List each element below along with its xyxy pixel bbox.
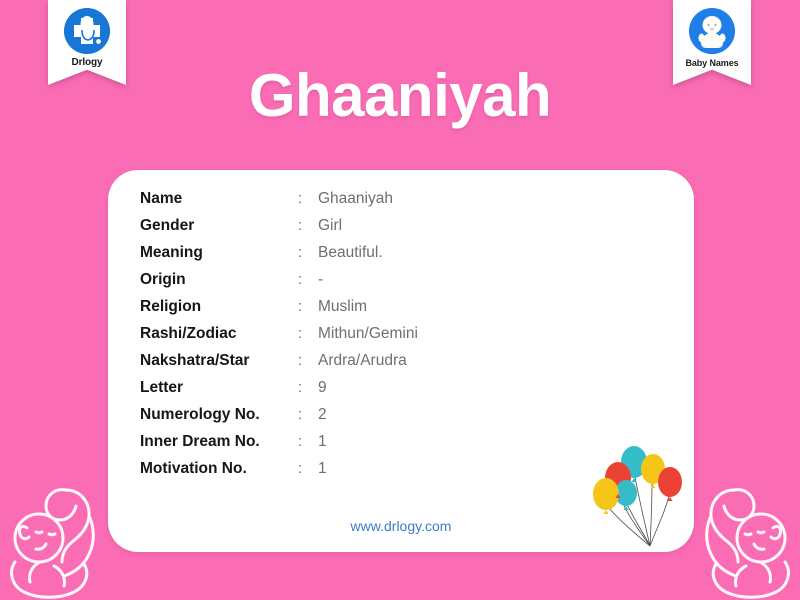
row-separator: : xyxy=(298,217,318,234)
table-row: Meaning : Beautiful. xyxy=(140,244,418,271)
row-separator: : xyxy=(298,325,318,342)
row-value-name: Ghaaniyah xyxy=(318,190,393,208)
row-separator: : xyxy=(298,352,318,369)
balloons-icon xyxy=(592,442,688,552)
row-separator: : xyxy=(298,190,318,207)
row-value-rashi-zodiac: Mithun/Gemini xyxy=(318,325,418,343)
row-separator: : xyxy=(298,271,318,288)
table-row: Numerology No. : 2 xyxy=(140,406,418,433)
row-separator: : xyxy=(298,406,318,423)
row-separator: : xyxy=(298,460,318,477)
table-row: Name : Ghaaniyah xyxy=(140,190,418,217)
row-value-letter: 9 xyxy=(318,379,327,397)
row-value-gender: Girl xyxy=(318,217,342,235)
row-label-meaning: Meaning xyxy=(140,244,298,262)
row-value-inner-dream-no: 1 xyxy=(318,433,327,451)
row-label-gender: Gender xyxy=(140,217,298,235)
name-details-card: Name : Ghaaniyah Gender : Girl Meaning :… xyxy=(108,170,694,552)
table-row: Motivation No. : 1 xyxy=(140,460,418,487)
row-label-religion: Religion xyxy=(140,298,298,316)
row-value-motivation-no: 1 xyxy=(318,460,327,478)
row-value-origin: - xyxy=(318,271,323,289)
row-label-inner-dream-no: Inner Dream No. xyxy=(140,433,298,451)
row-value-religion: Muslim xyxy=(318,298,367,316)
drlogy-doctor-cross-icon xyxy=(64,8,110,54)
table-row: Gender : Girl xyxy=(140,217,418,244)
mother-and-baby-icon xyxy=(688,466,800,600)
table-row: Nakshatra/Star : Ardra/Arudra xyxy=(140,352,418,379)
row-separator: : xyxy=(298,379,318,396)
row-label-numerology-no: Numerology No. xyxy=(140,406,298,424)
baby-icon xyxy=(689,8,735,54)
table-row: Letter : 9 xyxy=(140,379,418,406)
name-card-poster: Drlogy Baby Names Ghaaniyah xyxy=(0,0,800,600)
row-value-meaning: Beautiful. xyxy=(318,244,383,262)
row-label-nakshatra-star: Nakshatra/Star xyxy=(140,352,298,370)
row-label-motivation-no: Motivation No. xyxy=(140,460,298,478)
row-separator: : xyxy=(298,244,318,261)
table-row: Inner Dream No. : 1 xyxy=(140,433,418,460)
row-separator: : xyxy=(298,433,318,450)
row-value-nakshatra-star: Ardra/Arudra xyxy=(318,352,407,370)
table-row: Religion : Muslim xyxy=(140,298,418,325)
row-label-name: Name xyxy=(140,190,298,208)
row-label-origin: Origin xyxy=(140,271,298,289)
table-row: Rashi/Zodiac : Mithun/Gemini xyxy=(140,325,418,352)
row-value-numerology-no: 2 xyxy=(318,406,327,424)
page-title: Ghaaniyah xyxy=(0,62,800,130)
details-table: Name : Ghaaniyah Gender : Girl Meaning :… xyxy=(140,190,418,487)
table-row: Origin : - xyxy=(140,271,418,298)
row-separator: : xyxy=(298,298,318,315)
mother-and-baby-icon xyxy=(0,466,112,600)
row-label-letter: Letter xyxy=(140,379,298,397)
row-label-rashi-zodiac: Rashi/Zodiac xyxy=(140,325,298,343)
